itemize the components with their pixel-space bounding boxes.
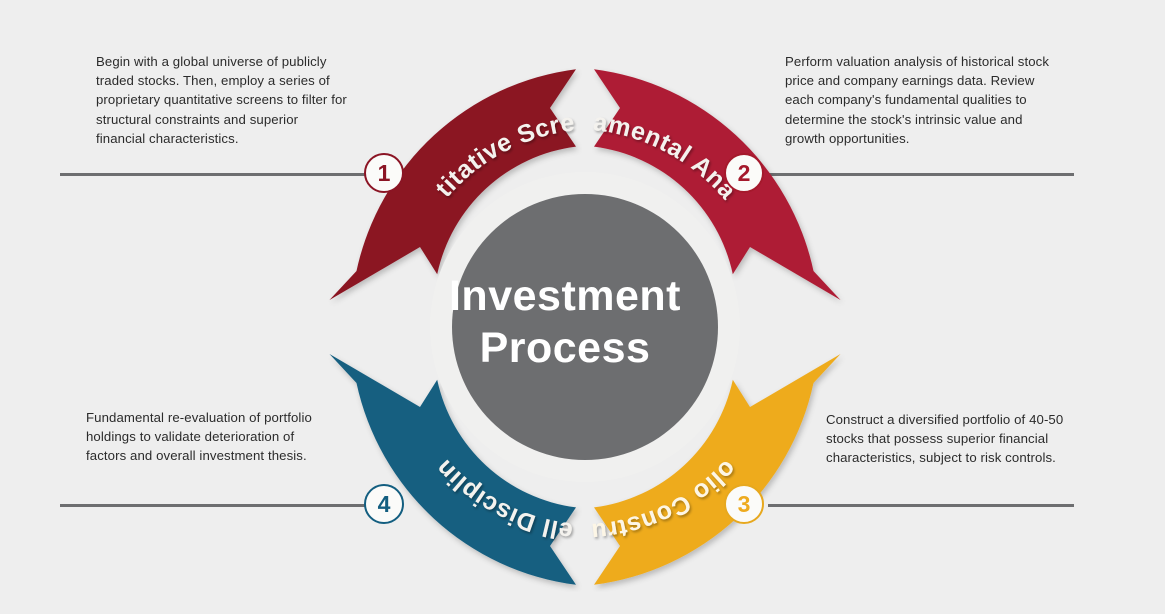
investment-process-diagram: Begin with a global universe of publicly… [0, 0, 1165, 614]
step-badge-2[interactable]: 2 [724, 153, 764, 193]
step-badge-4[interactable]: 4 [364, 484, 404, 524]
description-step-4: Fundamental re-evaluation of portfolio h… [86, 408, 326, 466]
step-badge-1[interactable]: 1 [364, 153, 404, 193]
hub-circle [452, 194, 718, 460]
step-badge-3[interactable]: 3 [724, 484, 764, 524]
